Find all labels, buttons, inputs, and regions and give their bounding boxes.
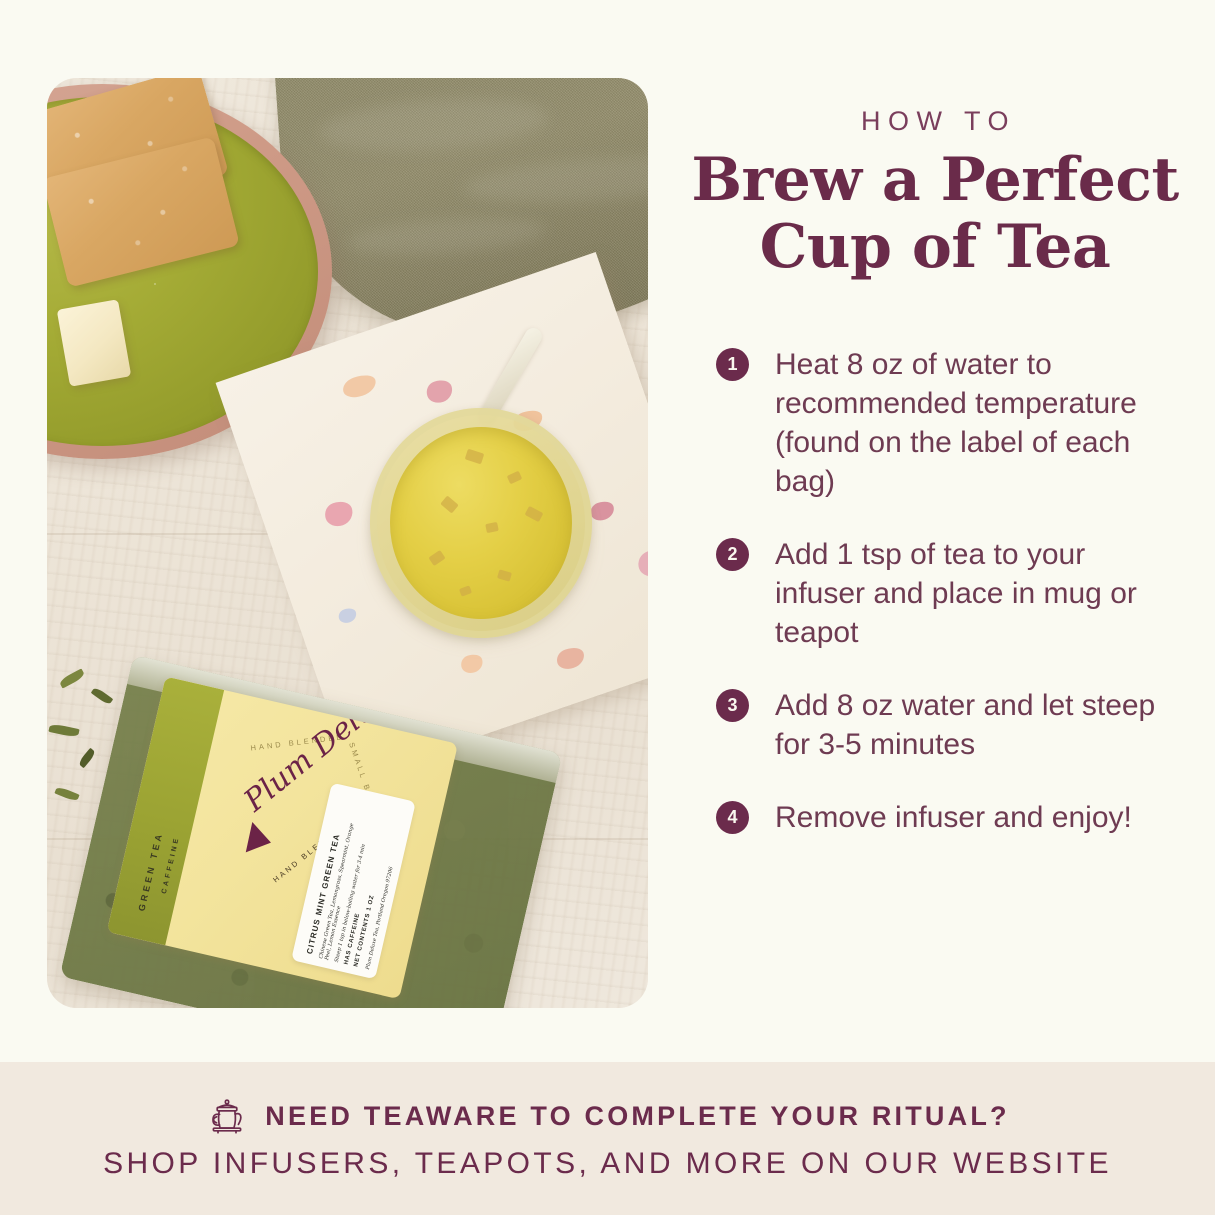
footer-headline-row: NEED TEAWARE TO COMPLETE YOUR RITUAL? <box>205 1097 1009 1137</box>
step-item: 4 Remove infuser and enjoy! <box>716 798 1180 837</box>
step-item: 2 Add 1 tsp of tea to your infuser and p… <box>716 535 1180 652</box>
infographic-page: GREEN TEA CAFFEINE HAND BLENDED SMALL BA… <box>0 0 1215 1215</box>
cloth-fold <box>317 92 550 158</box>
terrazzo-chip <box>337 606 359 625</box>
cloth-fold <box>462 150 648 210</box>
teapot-icon <box>205 1097 249 1137</box>
step-number-badge: 4 <box>716 801 749 834</box>
step-number-badge: 2 <box>716 538 749 571</box>
step-item: 3 Add 8 oz water and let steep for 3-5 m… <box>716 686 1180 764</box>
page-title-line-2: Cup of Tea <box>690 214 1180 281</box>
brewed-tea-liquid <box>390 427 572 619</box>
cheese-cube <box>57 299 132 387</box>
instructions-column: HOW TO Brew a Perfect Cup of Tea 1 Heat … <box>690 78 1180 871</box>
terrazzo-chip <box>554 644 587 672</box>
pouch-info-sticker: CITRUS MINT GREEN TEA Chinese Green Tea,… <box>291 783 416 980</box>
terrazzo-chip <box>459 652 486 676</box>
terrazzo-chip <box>635 545 648 580</box>
step-item: 1 Heat 8 oz of water to recommended temp… <box>716 345 1180 501</box>
footer-line-2: SHOP INFUSERS, TEAPOTS, AND MORE ON OUR … <box>103 1147 1112 1181</box>
step-number-badge: 1 <box>716 348 749 381</box>
cloth-fold <box>346 212 548 260</box>
hummingbird-logo-icon <box>236 818 271 852</box>
steps-list: 1 Heat 8 oz of water to recommended temp… <box>716 345 1180 837</box>
terrazzo-chip <box>424 377 456 406</box>
step-text: Heat 8 oz of water to recommended temper… <box>775 345 1175 501</box>
photo-inner: GREEN TEA CAFFEINE HAND BLENDED SMALL BA… <box>47 78 648 1008</box>
kicker-how-to: HOW TO <box>690 106 1180 137</box>
terrazzo-chip <box>340 371 379 401</box>
footer-line-1: NEED TEAWARE TO COMPLETE YOUR RITUAL? <box>265 1101 1009 1132</box>
tea-flatlay-photo: GREEN TEA CAFFEINE HAND BLENDED SMALL BA… <box>47 78 648 1008</box>
page-title: Brew a Perfect Cup of Tea <box>690 147 1180 281</box>
page-title-line-1: Brew a Perfect <box>690 147 1180 214</box>
terrazzo-chip <box>322 498 356 530</box>
step-number-badge: 3 <box>716 689 749 722</box>
footer-cta-banner[interactable]: NEED TEAWARE TO COMPLETE YOUR RITUAL? SH… <box>0 1062 1215 1215</box>
step-text: Add 1 tsp of tea to your infuser and pla… <box>775 535 1175 652</box>
step-text: Remove infuser and enjoy! <box>775 798 1132 837</box>
step-text: Add 8 oz water and let steep for 3-5 min… <box>775 686 1175 764</box>
